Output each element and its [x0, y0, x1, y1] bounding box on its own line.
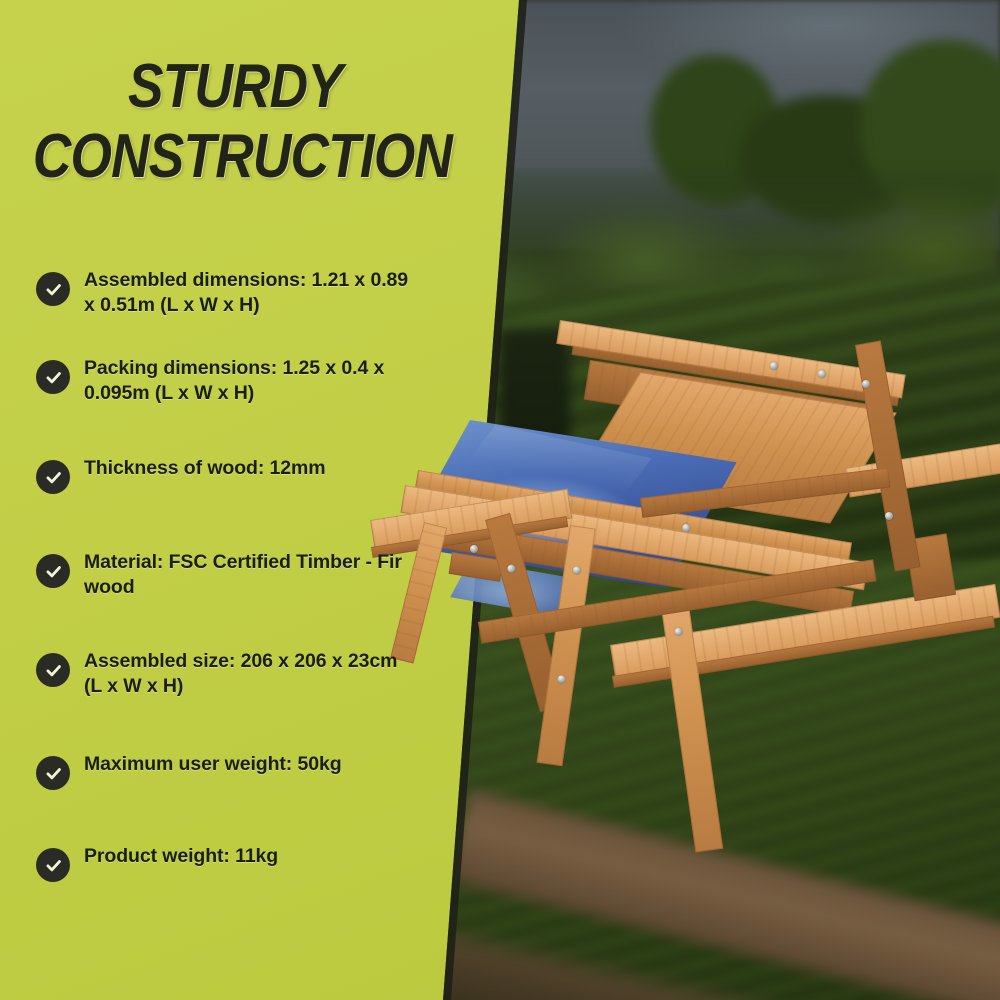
list-item: Assembled size: 206 x 206 x 23cm (L x W …	[36, 649, 456, 699]
page-title-line-1: STURDY	[33, 58, 437, 115]
page-title-line-2: CONSTRUCTION	[33, 128, 437, 185]
list-item-label: Material: FSC Certified Timber - Fir woo…	[84, 550, 414, 600]
list-item-label: Assembled dimensions: 1.21 x 0.89 x 0.51…	[84, 268, 414, 318]
product-infographic: STURDY CONSTRUCTION Assembled dimensions…	[0, 0, 1000, 1000]
feature-list: Assembled dimensions: 1.21 x 0.89 x 0.51…	[36, 268, 456, 890]
list-item: Packing dimensions: 1.25 x 0.4 x 0.095m …	[36, 356, 456, 406]
check-circle-icon	[36, 756, 70, 790]
list-item-label: Assembled size: 206 x 206 x 23cm (L x W …	[84, 649, 414, 699]
list-item: Material: FSC Certified Timber - Fir woo…	[36, 550, 456, 600]
check-circle-icon	[36, 554, 70, 588]
list-item: Product weight: 11kg	[36, 844, 456, 890]
list-item-label: Packing dimensions: 1.25 x 0.4 x 0.095m …	[84, 356, 414, 406]
list-item-label: Product weight: 11kg	[84, 844, 278, 869]
check-circle-icon	[36, 653, 70, 687]
check-circle-icon	[36, 460, 70, 494]
list-item-label: Thickness of wood: 12mm	[84, 456, 326, 481]
check-circle-icon	[36, 848, 70, 882]
list-item: Assembled dimensions: 1.21 x 0.89 x 0.51…	[36, 268, 456, 318]
list-item: Maximum user weight: 50kg	[36, 752, 456, 798]
list-item: Thickness of wood: 12mm	[36, 456, 456, 502]
check-circle-icon	[36, 360, 70, 394]
check-circle-icon	[36, 272, 70, 306]
panel-content: STURDY CONSTRUCTION Assembled dimensions…	[0, 0, 519, 1000]
list-item-label: Maximum user weight: 50kg	[84, 752, 342, 777]
